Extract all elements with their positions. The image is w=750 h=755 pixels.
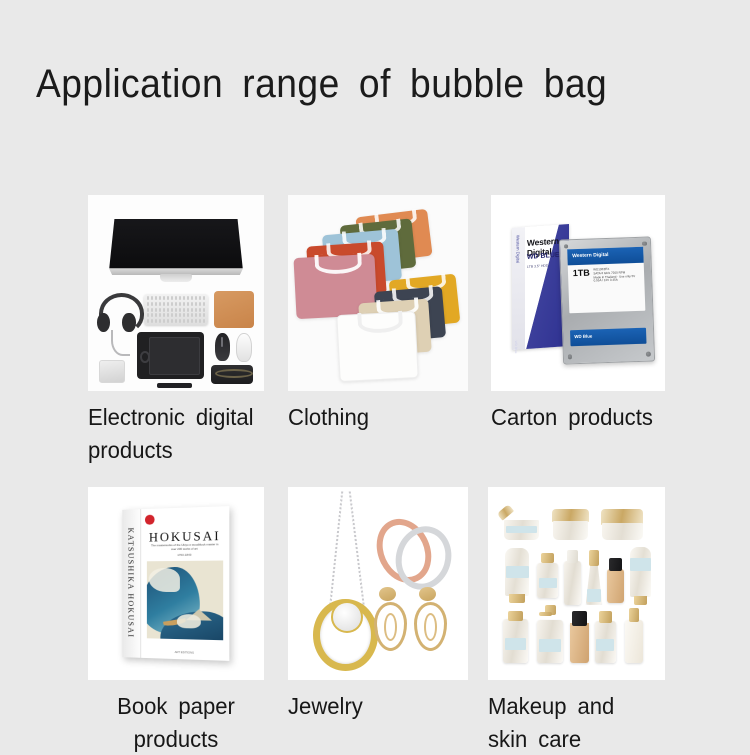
dropper-bottle-icon [586, 550, 603, 605]
keyboard-keys [147, 296, 205, 323]
caption-line-1: Book paper [92, 690, 261, 723]
necklace-chain-left [329, 491, 343, 610]
book-subtitle-text: The masterworks of the Ukiyo-e woodblock… [149, 544, 220, 553]
external-drive-icon [99, 360, 126, 384]
cream-tube-left-icon [503, 548, 530, 603]
caption-line-2: products [92, 723, 261, 755]
gaming-mouse-icon [215, 333, 230, 360]
drive-badge-text: WD Blue [574, 333, 592, 339]
caption-line-1: Carton products [491, 401, 658, 434]
wireless-mouse-icon [236, 333, 252, 361]
necklace-chain-right [349, 491, 365, 610]
cream-jar-large-icon [601, 509, 644, 540]
gallery-caption-makeup-and-skin-care: Makeup and skin care [488, 690, 658, 755]
box-side-brand: Western Digital [516, 236, 521, 265]
poster-page: Application range of bubble bag [0, 0, 750, 750]
caption-line-1: Jewelry [288, 690, 461, 723]
keyboard-icon [144, 294, 207, 325]
caption-line-1: Makeup and [488, 690, 658, 723]
necklace-pendant-icon [313, 599, 377, 671]
product-photo-clothing [288, 195, 468, 391]
hardcover-book-icon: KATSUSHIKA HOKUSAI HOKUSAI The masterwor… [122, 506, 229, 660]
drive-capacity-text: 1TB [572, 268, 589, 279]
product-photo-jewelry [288, 487, 468, 680]
caption-line-2: skin care [488, 723, 658, 755]
concealer-bottle-icon [570, 611, 588, 663]
book-publisher-text: ART EDITIONS [147, 649, 223, 655]
headphone-cup-right [122, 313, 135, 333]
mousepad-icon [214, 291, 254, 328]
box-subtitle: 1TB 3.5" HDD [527, 263, 548, 268]
pump-bottle-icon [537, 605, 563, 663]
caption-line-1: Electronic digital [88, 401, 257, 434]
hard-drive-icon: Western Digital 1TB WD10EZEX SATA 6 Gb/s… [558, 237, 655, 366]
product-photo-cosmetics [488, 487, 665, 680]
book-date-text: 1760-1849 [149, 553, 220, 558]
gallery-item-makeup-and-skin-care[interactable]: Makeup and skin care [488, 487, 665, 755]
monitor-stand [160, 274, 192, 282]
gallery-caption-carton-products: Carton products [491, 401, 658, 434]
box-footer-text: WD Blue [514, 341, 518, 354]
gallery-item-electronic-digital-products[interactable]: Electronic digital products [88, 195, 264, 466]
mist-bottle-icon [564, 550, 581, 605]
box-product-line: WD BLUE [527, 252, 560, 261]
spray-bottle-icon [625, 608, 643, 663]
caption-line-1: Clothing [288, 401, 461, 434]
foundation-bottle-icon [607, 558, 624, 603]
drive-fine-print: Made in Thailand · Use only 5V 0.55A / 1… [593, 275, 640, 284]
monitor-icon [109, 219, 243, 270]
cream-jar-gold-icon [552, 509, 589, 540]
product-photo-book: KATSUSHIKA HOKUSAI HOKUSAI The masterwor… [88, 487, 264, 680]
serum-bottle-icon [537, 553, 558, 598]
graphics-tablet-icon [137, 332, 204, 379]
product-photo-electronics [88, 195, 264, 391]
great-wave-artwork [147, 560, 223, 640]
product-photo-carton: Western Digital Western Digital WD BLUE … [491, 195, 665, 391]
book-spine-text: KATSUSHIKA HOKUSAI [126, 528, 134, 639]
gallery-caption-clothing: Clothing [288, 401, 461, 434]
cream-tube-right-icon [628, 547, 652, 605]
gallery-item-jewelry[interactable]: Jewelry [288, 487, 468, 723]
product-gallery-grid: Electronic digital products [0, 0, 750, 750]
cream-jar-open-icon [503, 508, 540, 540]
toner-bottle-icon [595, 611, 616, 663]
accessory-pouch-icon [211, 365, 253, 385]
drop-earring-left-icon [374, 587, 401, 645]
headphone-cable [111, 330, 131, 356]
lotion-bottle-icon [503, 611, 527, 663]
gallery-item-clothing[interactable]: Clothing [288, 195, 468, 434]
gallery-caption-electronic-digital-products: Electronic digital products [88, 401, 257, 466]
folded-shirt-white [337, 311, 420, 382]
stylus-pen-icon [157, 383, 192, 388]
book-cover-dot [145, 515, 154, 525]
gallery-caption-jewelry: Jewelry [288, 690, 461, 723]
drive-brand-text: Western Digital [572, 252, 608, 259]
gallery-item-book-paper-products[interactable]: KATSUSHIKA HOKUSAI HOKUSAI The masterwor… [88, 487, 264, 755]
drop-earring-right-icon [414, 587, 441, 645]
caption-line-2: products [88, 434, 257, 467]
gallery-item-carton-products[interactable]: Western Digital Western Digital WD BLUE … [491, 195, 665, 434]
gallery-caption-book-paper-products: Book paper products [92, 690, 261, 755]
